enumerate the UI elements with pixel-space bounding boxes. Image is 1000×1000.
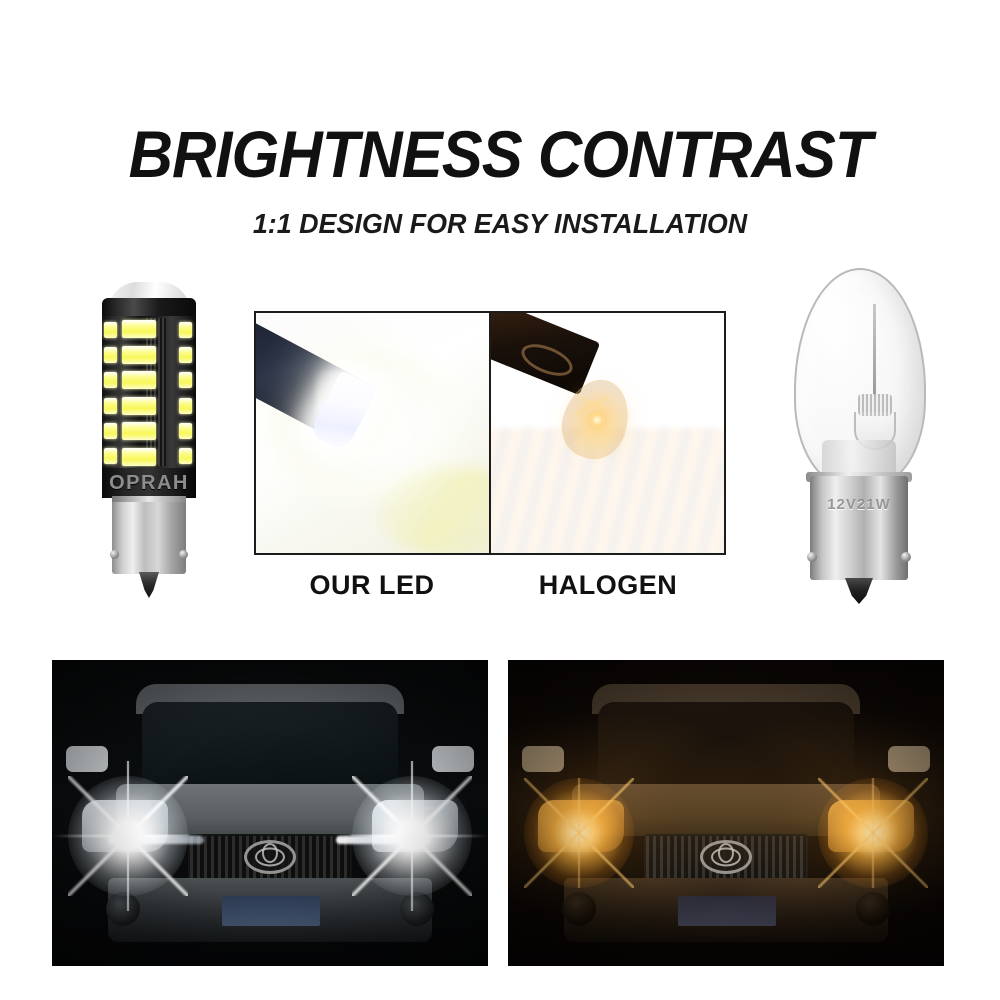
led-chip xyxy=(179,448,192,464)
led-bulb-brand-text: OPRAH xyxy=(109,472,189,495)
photo-vignette-led xyxy=(52,660,488,966)
led-chip xyxy=(104,448,117,464)
halogen-bulb-bayonet-pin-left xyxy=(807,552,817,562)
page-title: BRIGHTNESS CONTRAST xyxy=(35,116,965,192)
led-chip xyxy=(104,372,117,388)
halogen-bulb-base-marking: 12V21W xyxy=(810,496,908,513)
halogen-bulb-base xyxy=(810,476,908,580)
led-chip xyxy=(179,322,192,338)
led-chip-column-center xyxy=(122,320,156,466)
comparison-panels xyxy=(254,311,726,555)
led-chip xyxy=(179,372,192,388)
comparison-captions: OUR LED HALOGEN xyxy=(254,570,726,601)
halogen-filament-stem xyxy=(873,304,876,396)
page-subtitle: 1:1 DESIGN FOR EASY INSTALLATION xyxy=(20,208,980,240)
car-scene-halogen xyxy=(508,660,944,966)
led-bulb-contact-tip xyxy=(139,572,159,598)
led-chip xyxy=(104,322,117,338)
caption-our-led: OUR LED xyxy=(254,570,490,601)
led-bulb-image: OPRAH xyxy=(84,282,214,612)
photo-vignette-halogen xyxy=(508,660,944,966)
led-chip xyxy=(179,347,192,363)
halogen-panel-filament-glow xyxy=(586,409,608,431)
comparison-panel-led xyxy=(256,313,490,553)
led-bulb-brand-plate: OPRAH xyxy=(102,468,196,498)
led-bulb-bayonet-pin-right xyxy=(179,550,188,559)
led-chip xyxy=(122,397,156,415)
led-chip xyxy=(104,398,117,414)
led-chip xyxy=(122,320,156,338)
halogen-bulb-neck xyxy=(822,440,896,474)
led-bulb-base xyxy=(112,496,186,574)
led-chip xyxy=(122,422,156,440)
halogen-bulb-contact-tip xyxy=(845,578,873,604)
led-panel-light-streak xyxy=(378,467,490,553)
led-chip xyxy=(122,346,156,364)
halogen-bulb-image: 12V21W xyxy=(780,268,940,618)
led-chip xyxy=(104,423,117,439)
caption-halogen: HALOGEN xyxy=(490,570,726,601)
led-chip xyxy=(179,423,192,439)
comparison-panel-halogen xyxy=(490,313,724,553)
halogen-bulb-bayonet-pin-right xyxy=(901,552,911,562)
car-photo-row xyxy=(52,660,944,966)
led-chip-column-right xyxy=(179,322,192,464)
car-scene-led xyxy=(52,660,488,966)
led-bulb-bayonet-pin-left xyxy=(110,550,119,559)
led-chip xyxy=(104,347,117,363)
led-chip xyxy=(122,448,156,466)
car-photo-halogen xyxy=(508,660,944,966)
car-photo-led xyxy=(52,660,488,966)
led-chip xyxy=(179,398,192,414)
led-chip-column-left xyxy=(104,322,117,464)
comparison-panel-divider xyxy=(489,313,491,553)
led-bulb-base-ring xyxy=(112,496,186,502)
led-chip xyxy=(122,371,156,389)
